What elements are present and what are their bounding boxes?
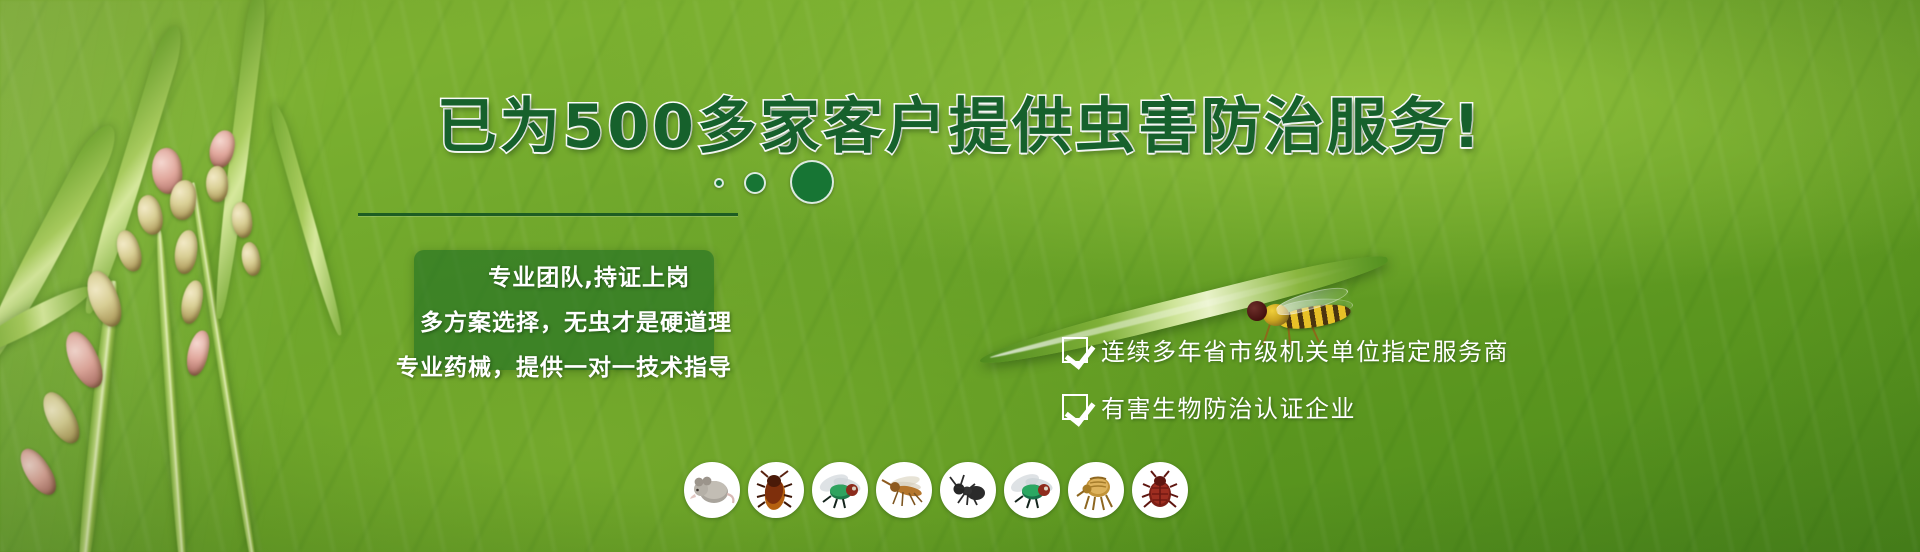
selling-point-2: 多方案选择，无虫才是硬道理 [420,303,732,337]
decorative-dots [714,158,914,206]
pest-control-hero-banner: 已为500多家客户提供虫害防治服务! 专业团队,持证上岗 多方案选择，无虫才是硬… [0,0,1920,552]
checklist-item: 连续多年省市级机关单位指定服务商 [1062,332,1509,367]
mosquito-icon[interactable] [876,462,932,518]
credentials-checklist: 连续多年省市级机关单位指定服务商 有害生物防治认证企业 [1062,332,1509,424]
small-dot-icon [714,178,724,188]
fly-icon[interactable] [812,462,868,518]
ant-icon[interactable] [940,462,996,518]
blowfly-icon[interactable] [1004,462,1060,518]
mouse-icon[interactable] [684,462,740,518]
selling-points-list: 专业团队,持证上岗 多方案选择，无虫才是硬道理 专业药械，提供一对一技术指导 [330,258,750,382]
selling-point-3: 专业药械，提供一对一技术指导 [396,348,732,382]
selling-point-1: 专业团队,持证上岗 [488,258,690,292]
checklist-item-label: 有害生物防治认证企业 [1101,389,1356,424]
checklist-item-label: 连续多年省市级机关单位指定服务商 [1101,332,1509,367]
page-title: 已为500多家客户提供虫害防治服务! [0,78,1920,165]
divider [358,213,738,216]
cockroach-icon[interactable] [748,462,804,518]
checkbox-checked-icon [1062,337,1088,363]
checkbox-checked-icon [1062,394,1088,420]
medium-dot-icon [744,172,766,194]
pest-type-icon-row [684,462,1188,518]
bedbug-icon[interactable] [1132,462,1188,518]
checklist-item: 有害生物防治认证企业 [1062,389,1509,424]
large-dot-icon [790,160,834,204]
flea-icon[interactable] [1068,462,1124,518]
